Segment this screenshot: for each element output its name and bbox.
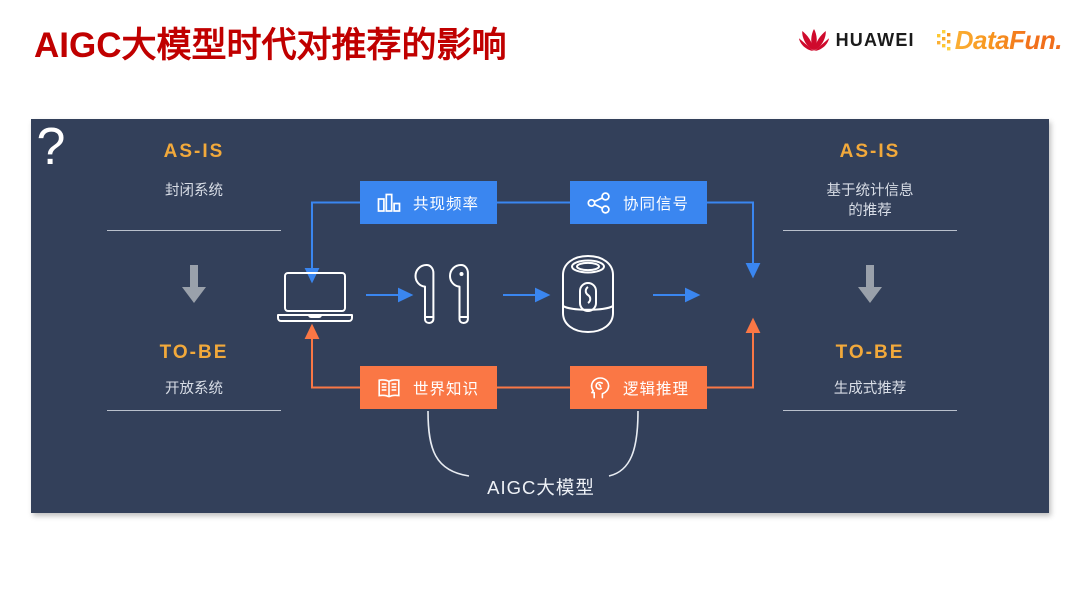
- huawei-petal-logo-icon: [799, 28, 829, 52]
- connector-cooccurrence-to-laptop: [312, 203, 360, 277]
- chip-world-knowledge[interactable]: 世界知识: [360, 366, 497, 409]
- datafun-dots-icon: [937, 29, 953, 51]
- datafun-wordmark: DataFun.: [955, 25, 1062, 56]
- brace-right-curve: [609, 411, 638, 476]
- open-book-icon: [376, 375, 402, 401]
- device-speaker: [553, 253, 623, 340]
- chip-logical-reasoning-label: 逻辑推理: [623, 377, 689, 399]
- brace-left-curve: [428, 411, 469, 476]
- share-network-icon: [586, 190, 612, 216]
- huawei-logo: HUAWEI: [799, 28, 915, 52]
- chip-logical-reasoning[interactable]: 逻辑推理: [570, 366, 707, 409]
- datafun-logo: DataFun.: [937, 25, 1062, 56]
- logo-bar: HUAWEI DataFun.: [799, 22, 1062, 58]
- earbuds-icon: [412, 261, 474, 329]
- smart-speaker-icon: [553, 253, 623, 335]
- chip-cooccurrence-label: 共现频率: [413, 192, 479, 214]
- device-laptop: [277, 268, 353, 329]
- chip-cooccurrence[interactable]: 共现频率: [360, 181, 497, 224]
- bar-chart-icon: [376, 190, 402, 216]
- chip-collaborative-label: 协同信号: [623, 192, 689, 214]
- chip-collaborative[interactable]: 协同信号: [570, 181, 707, 224]
- connector-world-knowledge-to-laptop: [312, 331, 360, 388]
- connector-collaborative-to-question: [707, 203, 753, 272]
- huawei-wordmark: HUAWEI: [836, 30, 915, 51]
- chip-world-knowledge-label: 世界知识: [413, 377, 479, 399]
- device-earbuds: [412, 261, 474, 334]
- diagram-panel: AS-IS 封闭系统 TO-BE 开放系统 AS-IS 基于统计信息 的推荐 T…: [31, 119, 1049, 513]
- head-brain-icon: [586, 375, 612, 401]
- aigc-caption: AIGC大模型: [436, 474, 646, 500]
- page-title: AIGC大模型时代对推荐的影响: [34, 17, 507, 68]
- slide-header: AIGC大模型时代对推荐的影响 HUAWEI: [0, 0, 1080, 100]
- flow-connectors: [31, 119, 1049, 513]
- laptop-icon: [277, 268, 353, 324]
- connector-logic-to-question: [707, 325, 753, 388]
